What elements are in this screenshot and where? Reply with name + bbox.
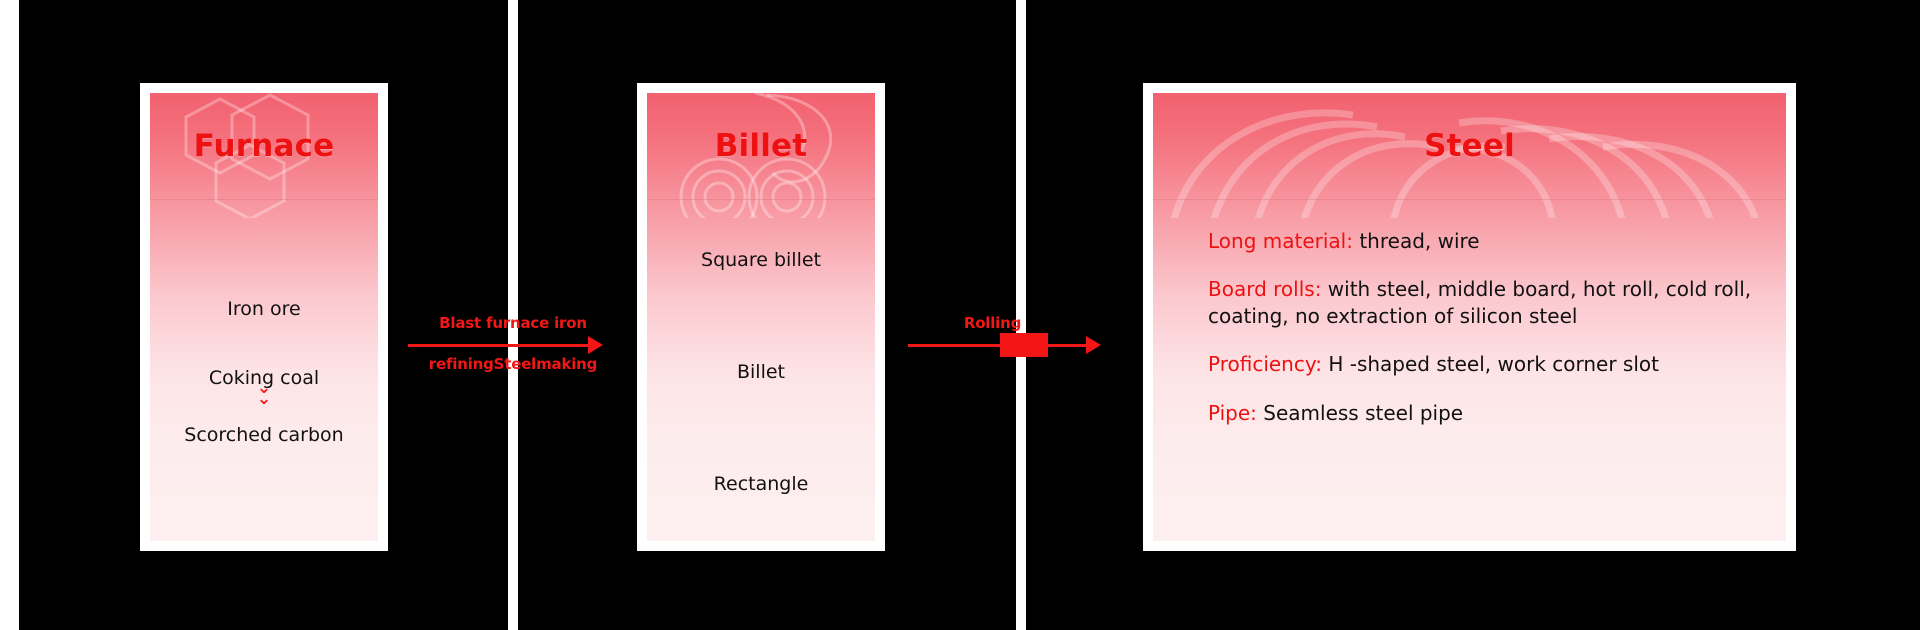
steel-label-long-material: Long material:	[1208, 229, 1353, 253]
card-billet-header: Billet	[647, 93, 875, 200]
card-steel[interactable]: Steel Long material: thread, wire Board …	[1143, 83, 1796, 551]
card-furnace-title: Furnace	[194, 128, 335, 164]
card-furnace-body: Iron ore Coking coal ⌄ ⌄ Scorched carbon	[150, 200, 378, 541]
steel-line-proficiency: Proficiency: H -shaped steel, work corne…	[1208, 351, 1768, 377]
steel-label-board-rolls: Board rolls:	[1208, 277, 1321, 301]
card-billet-inner: Billet Square billet Billet Rectangle	[647, 93, 875, 541]
card-steel-body: Long material: thread, wire Board rolls:…	[1153, 200, 1786, 541]
arrow-blast-furnace-label-top: Blast furnace iron	[408, 314, 618, 332]
card-steel-header: Steel	[1153, 93, 1786, 200]
arrow-rolling-label-top: Rolling	[890, 314, 1095, 332]
arrow-blast-furnace-line	[408, 344, 594, 347]
steel-label-proficiency: Proficiency:	[1208, 352, 1322, 376]
furnace-item-scorched-carbon: Scorched carbon	[184, 424, 343, 447]
diagram-canvas: Furnace Iron ore Coking coal ⌄ ⌄ Scorche…	[0, 0, 1920, 630]
panel-divider-left	[0, 0, 19, 630]
steel-line-pipe: Pipe: Seamless steel pipe	[1208, 400, 1768, 426]
steel-value-proficiency: H -shaped steel, work corner slot	[1322, 352, 1659, 376]
right-arrow-icon	[588, 336, 603, 354]
billet-item-square-billet: Square billet	[701, 249, 821, 272]
billet-item-rectangle: Rectangle	[714, 473, 809, 496]
arrow-blast-furnace: Blast furnace iron refiningSteelmaking	[408, 300, 618, 390]
card-furnace-header: Furnace	[150, 93, 378, 200]
billet-item-billet: Billet	[737, 361, 785, 384]
right-arrow-icon	[1086, 336, 1101, 354]
card-billet[interactable]: Billet Square billet Billet Rectangle	[637, 83, 885, 551]
steel-line-long-material: Long material: thread, wire	[1208, 228, 1768, 254]
steel-value-long-material: thread, wire	[1353, 229, 1480, 253]
card-furnace[interactable]: Furnace Iron ore Coking coal ⌄ ⌄ Scorche…	[140, 83, 388, 551]
steel-value-pipe: Seamless steel pipe	[1257, 401, 1463, 425]
card-steel-inner: Steel Long material: thread, wire Board …	[1153, 93, 1786, 541]
card-furnace-inner: Furnace Iron ore Coking coal ⌄ ⌄ Scorche…	[150, 93, 378, 541]
furnace-item-iron-ore: Iron ore	[227, 298, 300, 321]
card-steel-title: Steel	[1424, 128, 1515, 164]
steel-label-pipe: Pipe:	[1208, 401, 1257, 425]
double-chevron-down-icon: ⌄ ⌄	[257, 383, 271, 404]
chevron-down-icon-2: ⌄	[257, 394, 271, 405]
roller-block-icon	[1000, 333, 1048, 357]
arrow-rolling: Rolling	[908, 300, 1113, 390]
arrow-blast-furnace-label-bottom: refiningSteelmaking	[408, 355, 618, 373]
card-billet-body: Square billet Billet Rectangle	[647, 200, 875, 541]
card-billet-title: Billet	[715, 128, 808, 164]
steel-line-board-rolls: Board rolls: with steel, middle board, h…	[1208, 276, 1768, 329]
